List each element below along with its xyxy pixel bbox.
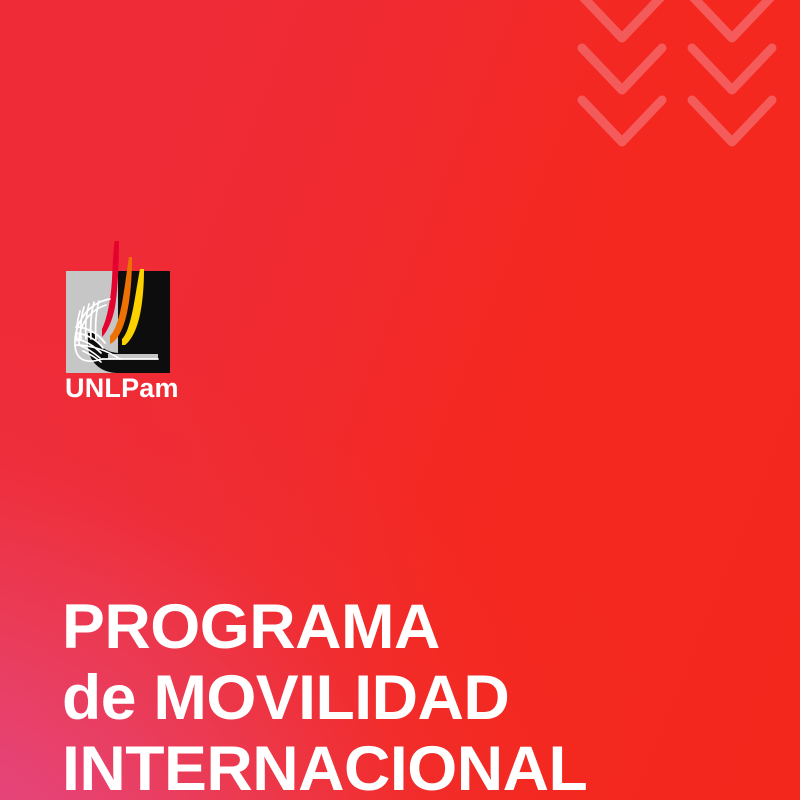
chevron-down-icon <box>692 100 772 142</box>
headline-line-1: PROGRAMA <box>62 592 776 663</box>
headline-line-2: de MOVILIDAD <box>62 663 776 734</box>
headline-line-3: INTERNACIONAL <box>62 734 776 800</box>
chevron-down-icon <box>582 48 662 90</box>
page-title: PROGRAMA de MOVILIDAD INTERNACIONAL de E… <box>62 592 776 800</box>
poster-canvas: UNLPam PROGRAMA de MOVILIDAD INTERNACION… <box>0 0 800 800</box>
chevron-down-icon <box>582 100 662 142</box>
chevron-down-icon <box>692 0 772 38</box>
brand-logo: UNLPam <box>62 241 282 402</box>
chevron-down-icon-group <box>560 0 800 166</box>
logo-wordmark: UNLPam <box>62 375 282 402</box>
unlpam-logo-mark <box>62 241 184 373</box>
chevron-down-icon <box>692 48 772 90</box>
chevron-down-icon <box>582 0 662 38</box>
